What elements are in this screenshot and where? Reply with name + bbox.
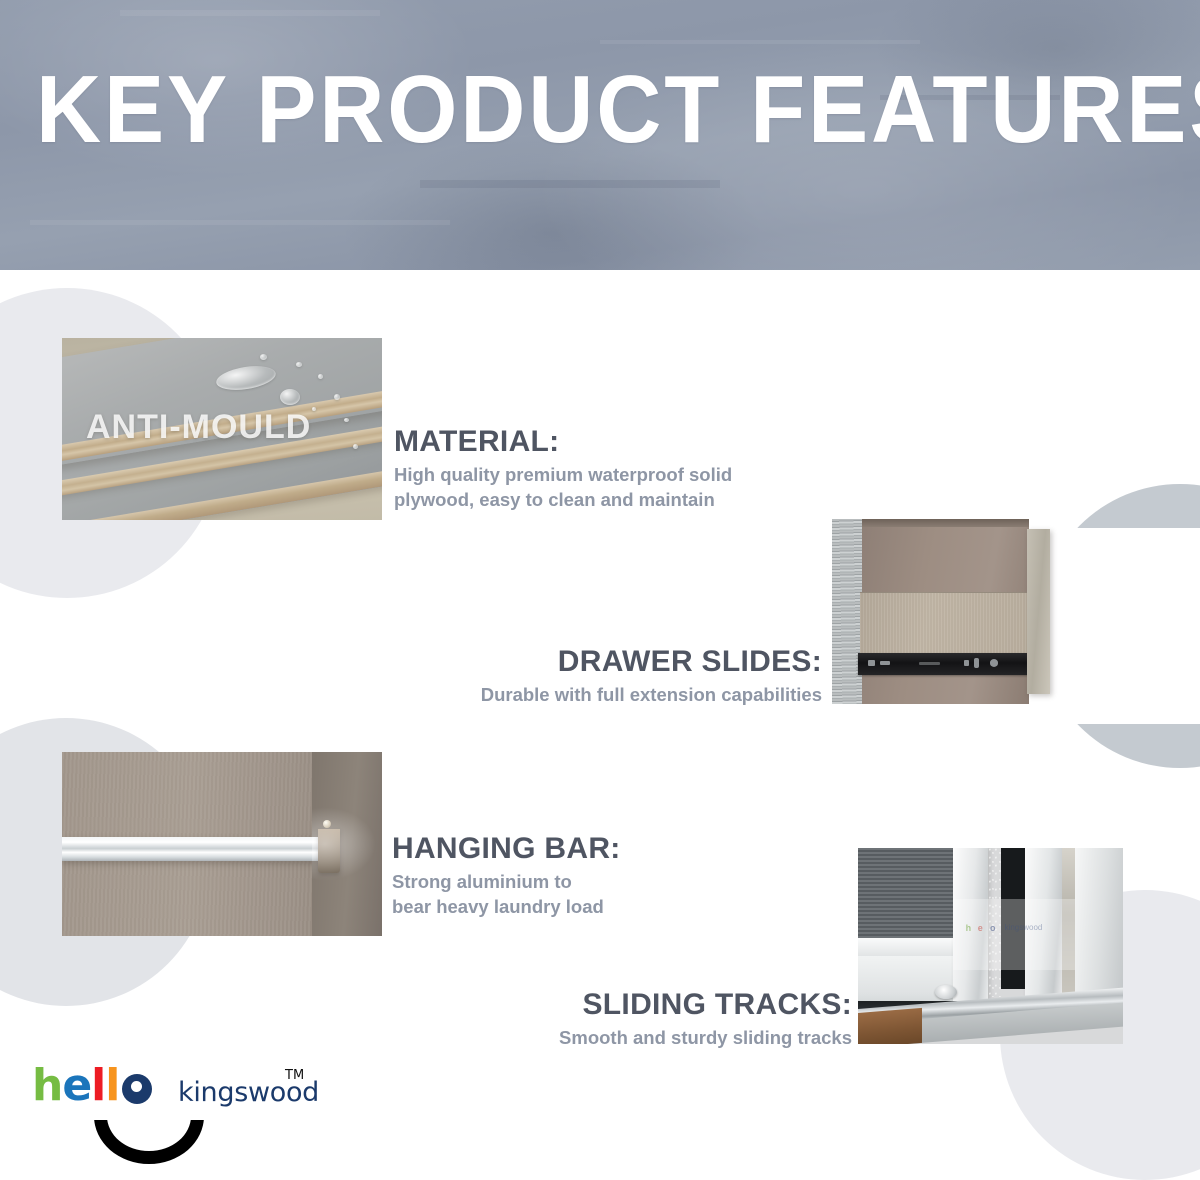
aluminium-hanging-rail	[62, 837, 331, 861]
feature-description-hanging-bar-line2: bear heavy laundry load	[392, 894, 792, 919]
rail-detail	[990, 659, 999, 667]
feature-description-sliding-tracks: Smooth and sturdy sliding tracks	[452, 1025, 852, 1050]
drawer-slides-photo	[832, 513, 1064, 710]
logo-letter-l-red: l	[91, 1062, 105, 1110]
texture-streak	[30, 220, 450, 225]
rail-detail	[919, 662, 940, 665]
feature-description-hanging-bar-line1: Strong aluminium to	[392, 869, 792, 894]
page-title: KEY PRODUCT FEATURES	[36, 58, 1164, 162]
rail-detail	[964, 660, 969, 666]
logo-smile-icon	[94, 1120, 204, 1166]
page-header: KEY PRODUCT FEATURES	[0, 0, 1200, 270]
photo-watermark: h e o kingswood	[953, 899, 1075, 970]
feature-text-material: MATERIAL: High quality premium waterproo…	[394, 425, 834, 512]
drawer-cabinet-top-edge	[862, 519, 1029, 527]
logo-letter-l-orange: l	[105, 1062, 119, 1110]
watermark-letter: o	[990, 923, 996, 933]
door-roller-wheel	[935, 985, 957, 999]
anti-mould-overlay-label: ANTI-MOULD	[86, 408, 311, 447]
watermark-letter: e	[978, 923, 983, 933]
sliding-door-panel	[1075, 848, 1123, 1005]
watermark-brand: kingswood	[1005, 923, 1043, 932]
background-shelf	[858, 848, 953, 950]
hanging-bar-photo	[62, 752, 382, 936]
feature-text-sliding-tracks: SLIDING TRACKS: Smooth and sturdy slidin…	[452, 988, 852, 1050]
logo-letter-e: e	[62, 1062, 91, 1110]
logo-letter-o-circle	[122, 1074, 152, 1104]
feature-description-material-line1: High quality premium waterproof solid	[394, 462, 834, 487]
water-droplet	[344, 418, 349, 422]
rail-detail	[868, 660, 875, 666]
drawer-slide-rail	[858, 653, 1030, 675]
feature-description-drawer-slides: Durable with full extension capabilities	[380, 682, 822, 707]
wooden-skirting	[858, 1008, 922, 1044]
trademark-symbol: TM	[285, 1068, 304, 1083]
drawer-front-panel	[1027, 529, 1050, 694]
feature-heading-material: MATERIAL:	[394, 425, 834, 459]
water-droplet	[280, 389, 300, 405]
light-glow	[312, 807, 376, 881]
brand-logo: hell kingswood TM	[32, 1062, 332, 1162]
material-photo: ANTI-MOULD	[62, 338, 382, 520]
feature-heading-drawer-slides: DRAWER SLIDES:	[380, 645, 822, 679]
feature-heading-sliding-tracks: SLIDING TRACKS:	[452, 988, 852, 1022]
decorative-white-panel-drawer	[1052, 528, 1200, 724]
drawer-side-wall	[832, 519, 862, 704]
logo-letter-h: h	[32, 1062, 62, 1110]
cabinet-ledge	[858, 938, 959, 958]
feature-description-material-line2: plywood, easy to clean and maintain	[394, 487, 834, 512]
water-droplet	[353, 444, 358, 449]
feature-text-hanging-bar: HANGING BAR: Strong aluminium to bear he…	[392, 832, 792, 919]
texture-streak	[120, 10, 380, 16]
water-droplet	[312, 407, 316, 411]
watermark-letter: h	[966, 923, 972, 933]
texture-streak	[600, 40, 920, 44]
sliding-tracks-photo: h e o kingswood	[858, 848, 1123, 1044]
logo-wordmark: hell	[32, 1062, 152, 1110]
rail-detail	[880, 661, 890, 666]
feature-text-drawer-slides: DRAWER SLIDES: Durable with full extensi…	[380, 645, 822, 707]
water-droplet	[296, 362, 302, 367]
rail-detail	[974, 658, 979, 668]
feature-heading-hanging-bar: HANGING BAR:	[392, 832, 792, 866]
drawer-box-front	[860, 592, 1029, 655]
texture-streak	[420, 180, 720, 188]
